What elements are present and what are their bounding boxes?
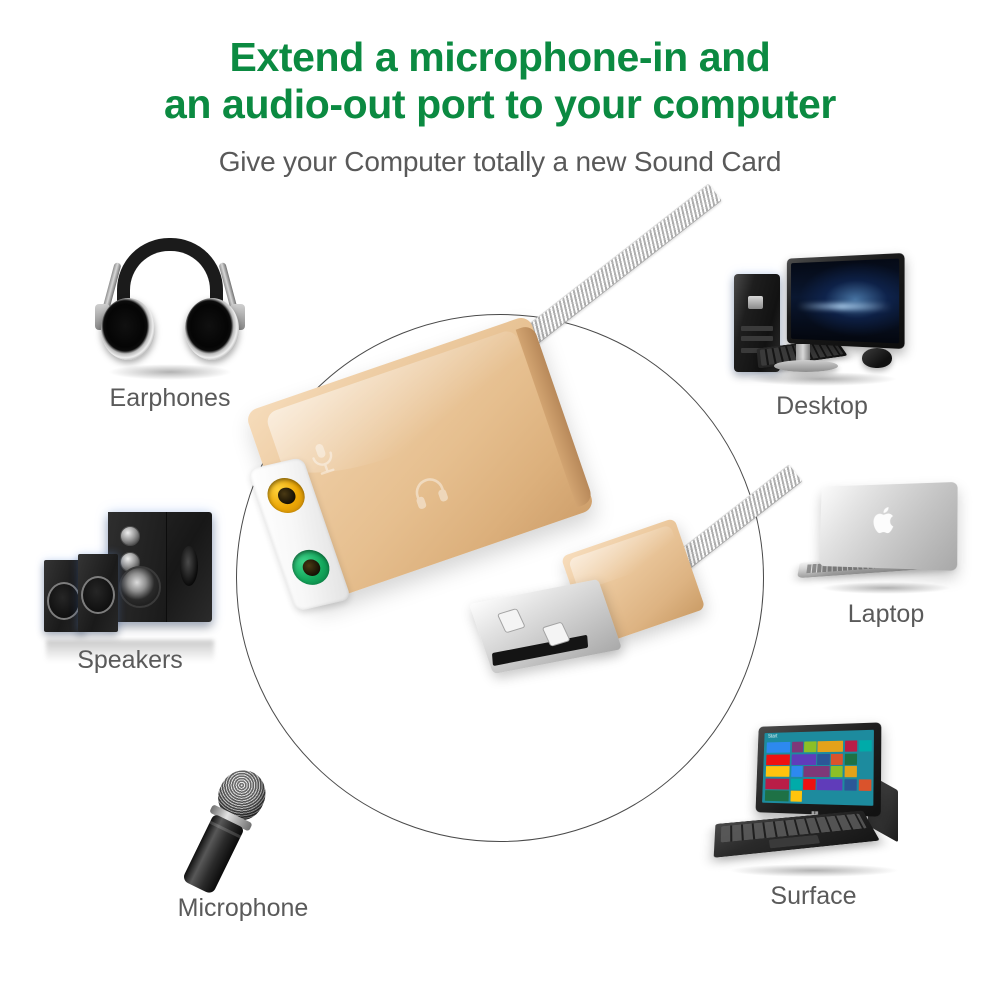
device-label-earphones: Earphones [95,384,245,413]
audio-out-jack [287,546,334,588]
live-tile[interactable] [803,778,815,789]
headphone-earcup-right [185,298,239,360]
live-tile[interactable] [766,766,790,777]
page-title: Extend a microphone-in and an audio-out … [0,34,1000,128]
surface-tablet: Start [756,722,882,816]
live-tile[interactable] [804,766,830,777]
live-tile[interactable] [817,753,829,764]
surface-type-cover [714,811,880,858]
live-tile[interactable] [858,779,871,791]
laptop-shadow [821,582,951,594]
start-screen-label: Start [768,734,778,740]
monitor-stand-base [774,360,838,372]
windows-logo-icon[interactable] [812,805,819,812]
device-label-surface: Surface [706,882,921,911]
device-label-desktop: Desktop [722,392,922,421]
live-tile[interactable] [859,740,872,751]
live-tile[interactable] [791,766,803,777]
device-earphones: Earphones [95,236,245,366]
headphone-earcup-left [101,298,155,360]
subwoofer-bass-port [180,546,198,586]
tower-drive-bay [741,326,773,331]
live-tile[interactable] [844,766,857,777]
live-tile[interactable] [791,754,816,765]
satellite-driver-right [81,576,115,614]
live-tile[interactable] [831,766,843,777]
desktop-monitor [787,253,905,349]
usb-tongue-cutout-left [497,608,526,633]
page-subtitle: Give your Computer totally a new Sound C… [0,146,1000,178]
satellite-speaker-right [78,554,118,632]
surface-shadow [729,864,899,877]
tower-drive-bay [741,336,773,341]
live-tile[interactable] [790,778,802,789]
headline-line-2: an audio-out port to your computer [0,81,1000,128]
live-tile[interactable] [831,753,843,764]
device-microphone: Microphone [168,762,318,892]
surface-screen: Start [762,730,874,806]
subwoofer-driver [119,566,161,608]
live-tile[interactable] [790,791,802,802]
audio-out-jack-hole [300,557,322,577]
monitor-bezel [787,253,905,349]
live-tile[interactable] [845,753,858,764]
laptop-lid [819,482,957,571]
device-label-speakers: Speakers [40,646,220,675]
tower-brand-logo [748,296,763,309]
microphone-in-jack [263,474,310,516]
live-tile[interactable] [765,778,789,789]
apple-logo-icon [872,505,898,540]
live-tile[interactable] [844,779,857,791]
product-banner: Extend a microphone-in and an audio-out … [0,0,1000,1000]
handheld-microphone [176,762,273,897]
live-tile[interactable] [765,790,789,801]
live-tile[interactable] [817,778,843,789]
usb-a-connector [457,518,714,706]
desktop-mouse [862,348,892,368]
device-label-microphone: Microphone [168,894,318,923]
live-tile[interactable] [766,754,790,765]
headline-line-1: Extend a microphone-in and [0,34,1000,81]
live-tile[interactable] [792,742,804,753]
usb-sound-card-adapter [250,330,770,770]
monitor-wallpaper-streak [797,303,892,311]
device-label-laptop: Laptop [796,600,976,629]
windows-live-tiles [765,740,872,804]
subwoofer-volume-knob[interactable] [120,526,140,546]
live-tile[interactable] [845,740,858,751]
live-tile[interactable] [818,741,844,752]
live-tile[interactable] [804,741,816,752]
usb-connector-tongue [469,579,622,674]
desktop-shadow [747,372,897,386]
usb-tongue-cutout-right [542,621,571,646]
earphones-shadow [108,364,232,380]
braided-cable-upper-segment [511,183,722,354]
monitor-screen [791,259,899,344]
satellite-driver-left [47,582,81,620]
live-tile[interactable] [767,742,791,753]
microphone-jack-hole [275,486,297,506]
microphone-handle [182,814,245,895]
device-desktop: Desktop [722,248,922,383]
device-surface: Start Surface [706,722,921,877]
device-laptop: Laptop [796,478,976,598]
subwoofer [108,512,212,622]
device-speakers: Speakers [40,498,220,648]
